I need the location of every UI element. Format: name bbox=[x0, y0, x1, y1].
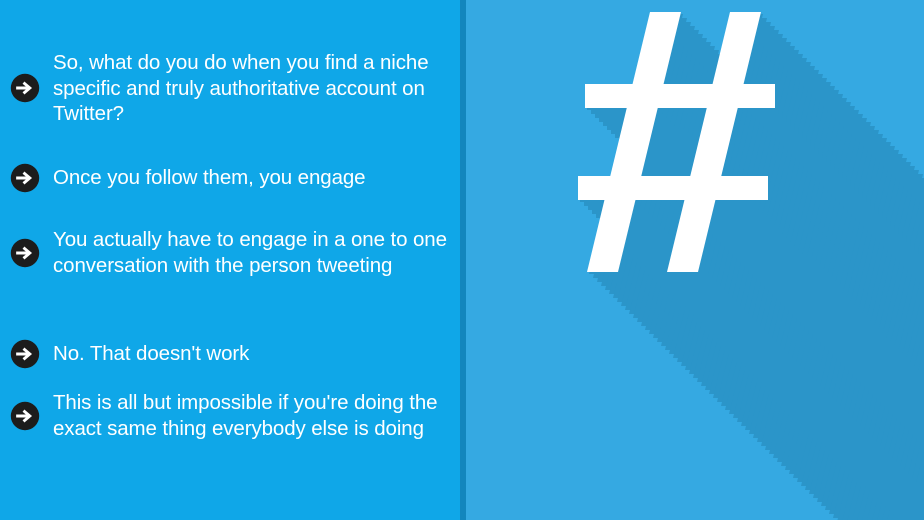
arrow-right-circle-icon bbox=[10, 339, 40, 369]
bullet-list: So, what do you do when you find a niche… bbox=[0, 0, 460, 520]
arrow-right-circle-icon bbox=[10, 163, 40, 193]
slide-canvas: So, what do you do when you find a niche… bbox=[0, 0, 924, 520]
list-item: You actually have to engage in a one to … bbox=[10, 227, 454, 278]
list-item-label: Once you follow them, you engage bbox=[53, 165, 454, 191]
list-item: This is all but impossible if you're doi… bbox=[10, 390, 454, 441]
list-item: No. That doesn't work bbox=[10, 339, 454, 369]
arrow-right-circle-icon bbox=[10, 73, 40, 103]
right-panel bbox=[466, 0, 924, 520]
list-item: So, what do you do when you find a niche… bbox=[10, 50, 454, 127]
list-item-label: No. That doesn't work bbox=[53, 341, 454, 367]
list-item-label: This is all but impossible if you're doi… bbox=[53, 390, 454, 441]
list-item: Once you follow them, you engage bbox=[10, 163, 454, 193]
arrow-right-circle-icon bbox=[10, 238, 40, 268]
left-panel: So, what do you do when you find a niche… bbox=[0, 0, 460, 520]
list-item-label: So, what do you do when you find a niche… bbox=[53, 50, 454, 127]
arrow-right-circle-icon bbox=[10, 401, 40, 431]
hashtag-icon bbox=[466, 0, 924, 520]
list-item-label: You actually have to engage in a one to … bbox=[53, 227, 454, 278]
